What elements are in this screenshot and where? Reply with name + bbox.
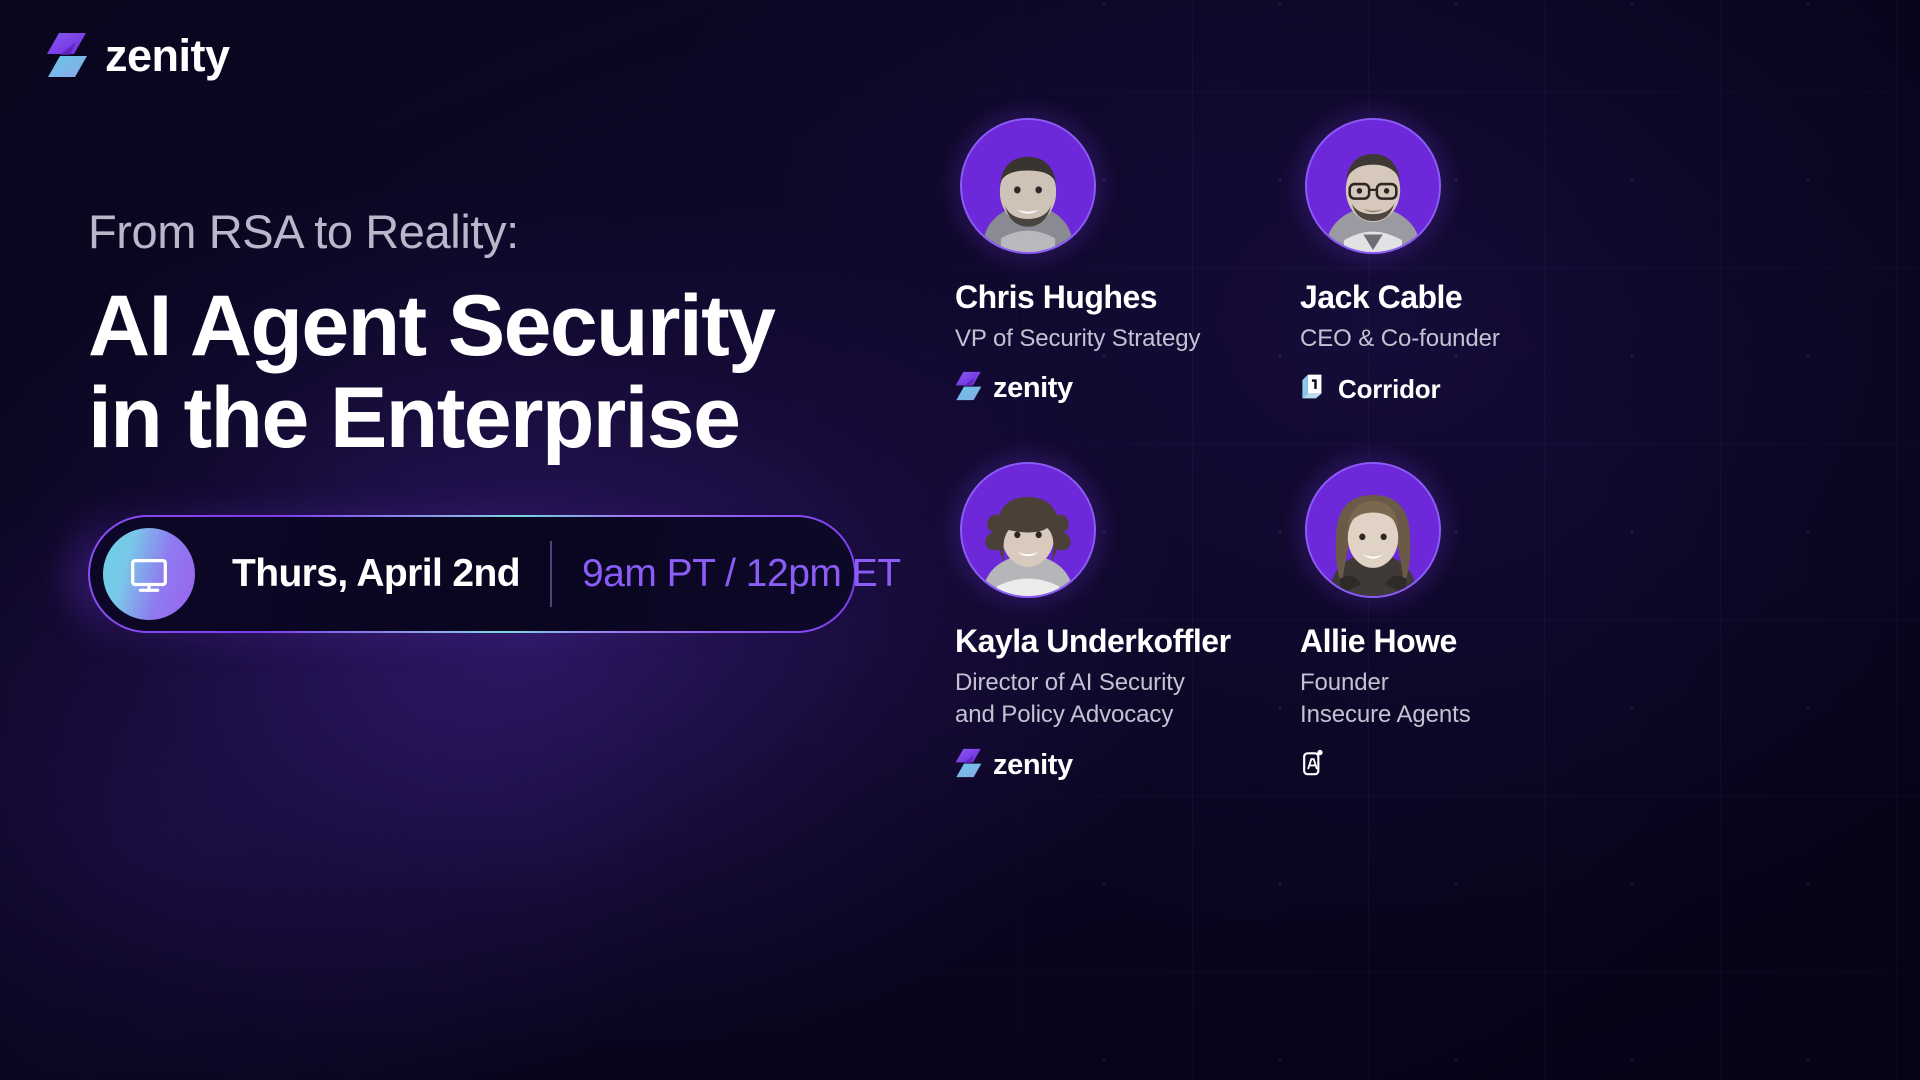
speaker-title-line-2: and Policy Advocacy xyxy=(955,699,1300,731)
avatar-portrait xyxy=(962,120,1094,252)
speaker-card-allie-howe: Allie Howe Founder Insecure Agents xyxy=(1300,462,1645,782)
corridor-cube-icon xyxy=(1300,371,1327,407)
hero-text-block: From RSA to Reality: AI Agent Security i… xyxy=(88,206,918,464)
event-time: 9am PT / 12pm ET xyxy=(582,552,901,596)
brand-wordmark: zenity xyxy=(105,33,230,78)
speaker-company xyxy=(1300,748,1645,782)
avatar-allie-howe xyxy=(1305,462,1441,598)
headline-line-1: AI Agent Security xyxy=(88,278,774,374)
speaker-name: Kayla Underkoffler xyxy=(955,624,1300,660)
pill-divider xyxy=(550,541,552,607)
speakers-grid: Chris Hughes VP of Security Strategy zen… xyxy=(955,118,1875,782)
event-datetime-pill: Thurs, April 2nd 9am PT / 12pm ET xyxy=(88,515,856,633)
speaker-title: Director of AI Security and Policy Advoc… xyxy=(955,667,1300,731)
avatar-ring xyxy=(1305,118,1441,254)
speaker-title-line-2: Insecure Agents xyxy=(1300,699,1645,731)
brand-logo: zenity xyxy=(46,32,230,78)
hero-eyebrow: From RSA to Reality: xyxy=(88,206,918,258)
avatar-jack-cable xyxy=(1305,118,1441,254)
headline-line-2: in the Enterprise xyxy=(88,372,918,464)
speaker-company-name: zenity xyxy=(993,751,1073,780)
avatar-ring xyxy=(960,118,1096,254)
speaker-name: Chris Hughes xyxy=(955,280,1300,316)
avatar-portrait xyxy=(1307,464,1439,596)
speaker-company: zenity xyxy=(955,372,1300,406)
speaker-company-name: zenity xyxy=(993,374,1073,403)
speaker-title: CEO & Co-founder xyxy=(1300,323,1645,355)
desktop-monitor-icon xyxy=(103,528,195,620)
speaker-title-line-1: Founder xyxy=(1300,667,1645,699)
avatar-kayla-underkoffler xyxy=(960,462,1096,598)
zenity-z-mark-icon xyxy=(955,371,982,406)
speaker-company: zenity xyxy=(955,748,1300,782)
avatar-ring xyxy=(960,462,1096,598)
avatar-portrait xyxy=(1307,120,1439,252)
avatar-portrait xyxy=(962,464,1094,596)
speaker-name: Jack Cable xyxy=(1300,280,1645,316)
speaker-company: Corridor xyxy=(1300,372,1645,406)
zenity-z-mark-icon xyxy=(46,32,88,78)
zenity-z-mark-icon xyxy=(955,748,982,783)
speaker-name: Allie Howe xyxy=(1300,624,1645,660)
speaker-card-kayla-underkoffler: Kayla Underkoffler Director of AI Securi… xyxy=(955,462,1300,782)
hero-headline: AI Agent Security in the Enterprise xyxy=(88,280,918,464)
insecure-agents-icon xyxy=(1300,748,1325,782)
speaker-card-jack-cable: Jack Cable CEO & Co-founder Corridor xyxy=(1300,118,1645,406)
event-date: Thurs, April 2nd xyxy=(232,552,520,596)
avatar-chris-hughes xyxy=(960,118,1096,254)
speaker-company-name: Corridor xyxy=(1338,376,1440,402)
speaker-title: VP of Security Strategy xyxy=(955,323,1300,355)
speaker-title: Founder Insecure Agents xyxy=(1300,667,1645,731)
pill-body: Thurs, April 2nd 9am PT / 12pm ET xyxy=(88,515,856,633)
speaker-title-line-1: Director of AI Security xyxy=(955,667,1300,699)
avatar-ring xyxy=(1305,462,1441,598)
speaker-card-chris-hughes: Chris Hughes VP of Security Strategy zen… xyxy=(955,118,1300,406)
